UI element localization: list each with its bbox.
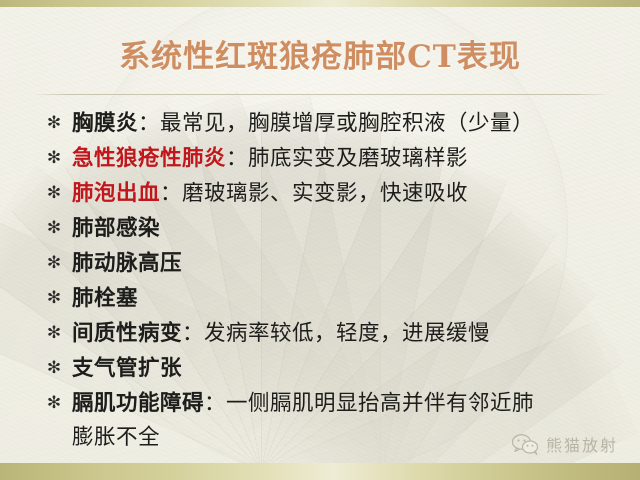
bullet-item: ✻肺泡出血：磨玻璃影、实变影，快速吸收 — [44, 176, 626, 211]
bullet-marker-icon: ✻ — [44, 106, 64, 141]
bullet-term-highlight: 急性狼疮性肺炎 — [72, 146, 226, 171]
bullet-term: 膈肌功能障碍 — [72, 391, 204, 416]
bullet-detail: ：磨玻璃影、实变影，快速吸收 — [160, 181, 468, 206]
bullet-term: 胸膜炎 — [72, 111, 138, 136]
bullet-marker-icon: ✻ — [44, 176, 64, 211]
page-title: 系统性红斑狼疮肺部CT表现 — [0, 39, 640, 75]
bullet-marker-icon: ✻ — [44, 316, 64, 351]
bullet-term: 肺动脉高压 — [72, 251, 182, 276]
bullet-detail: ：发病率较低，轻度，进展缓慢 — [182, 321, 490, 346]
bullet-marker-icon: ✻ — [44, 281, 64, 316]
bullet-item: ✻胸膜炎：最常见，胸膜增厚或胸腔积液（少量） — [44, 106, 626, 141]
bullet-item: ✻膈肌功能障碍：一侧膈肌明显抬高并伴有邻近肺 — [44, 386, 626, 421]
bullet-term: 肺栓塞 — [72, 286, 138, 311]
slide-canvas: 系统性红斑狼疮肺部CT表现 ✻胸膜炎：最常见，胸膜增厚或胸腔积液（少量）✻急性狼… — [0, 0, 640, 480]
bullet-term: 支气管扩张 — [72, 356, 182, 381]
bullet-item: ✻间质性病变：发病率较低，轻度，进展缓慢 — [44, 316, 626, 351]
bullet-marker-icon: ✻ — [44, 141, 64, 176]
bullet-item: ✻肺部感染 — [44, 211, 626, 246]
bullet-detail: ：最常见，胸膜增厚或胸腔积液（少量） — [138, 111, 534, 136]
bottom-accent-bar — [0, 463, 640, 480]
bullet-marker-icon: ✻ — [44, 246, 64, 281]
footer-credit: 熊猫放射 — [512, 432, 618, 456]
bullet-detail: ：肺底实变及磨玻璃样影 — [226, 146, 468, 171]
wechat-icon — [512, 434, 539, 455]
bullet-item: ✻肺动脉高压 — [44, 246, 626, 281]
bullet-item: ✻急性狼疮性肺炎：肺底实变及磨玻璃样影 — [44, 141, 626, 176]
bullet-marker-icon: ✻ — [44, 351, 64, 386]
bullet-term: 间质性病变 — [72, 321, 182, 346]
bullet-term-highlight: 肺泡出血 — [72, 181, 160, 206]
footer-account-name: 熊猫放射 — [546, 432, 618, 456]
bullet-marker-icon: ✻ — [44, 386, 64, 421]
bullet-item: ✻支气管扩张 — [44, 351, 626, 386]
bullet-marker-icon: ✻ — [44, 211, 64, 246]
bullet-detail: ：一侧膈肌明显抬高并伴有邻近肺 — [204, 391, 534, 416]
bullet-list: ✻胸膜炎：最常见，胸膜增厚或胸腔积液（少量）✻急性狼疮性肺炎：肺底实变及磨玻璃样… — [44, 106, 626, 455]
top-accent-bar — [0, 0, 640, 7]
title-divider — [32, 94, 610, 95]
bullet-item: ✻肺栓塞 — [44, 281, 626, 316]
bullet-term: 肺部感染 — [72, 216, 160, 241]
